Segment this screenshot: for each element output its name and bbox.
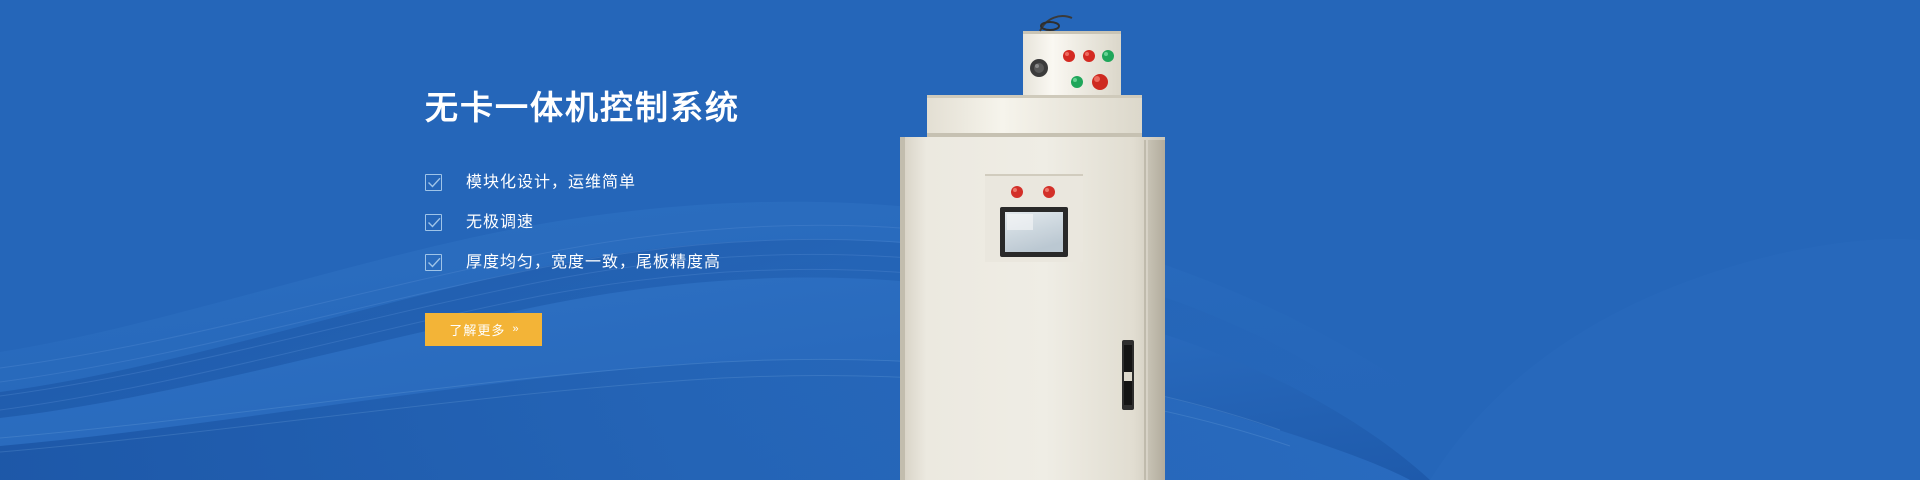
page-title: 无卡一体机控制系统 bbox=[425, 88, 1065, 128]
feature-label: 模块化设计，运维简单 bbox=[466, 175, 636, 191]
check-square-icon bbox=[425, 214, 442, 231]
hero-content: 无卡一体机控制系统 模块化设计，运维简单 无极调速 bbox=[425, 88, 1065, 346]
check-square-icon bbox=[425, 254, 442, 271]
hero-banner: 无卡一体机控制系统 模块化设计，运维简单 无极调速 bbox=[0, 0, 1920, 480]
check-square-icon bbox=[425, 174, 442, 191]
learn-more-label: 了解更多 bbox=[449, 320, 505, 339]
feature-label: 厚度均匀，宽度一致，尾板精度高 bbox=[466, 255, 721, 271]
chevron-right-icon: » bbox=[512, 323, 517, 335]
learn-more-button[interactable]: 了解更多 » bbox=[425, 313, 542, 346]
list-item: 厚度均匀，宽度一致，尾板精度高 bbox=[425, 252, 1065, 274]
list-item: 模块化设计，运维简单 bbox=[425, 172, 1065, 194]
feature-label: 无极调速 bbox=[466, 215, 534, 231]
list-item: 无极调速 bbox=[425, 212, 1065, 234]
feature-list: 模块化设计，运维简单 无极调速 厚度均匀，宽度一致，尾板精度高 bbox=[425, 172, 1065, 274]
